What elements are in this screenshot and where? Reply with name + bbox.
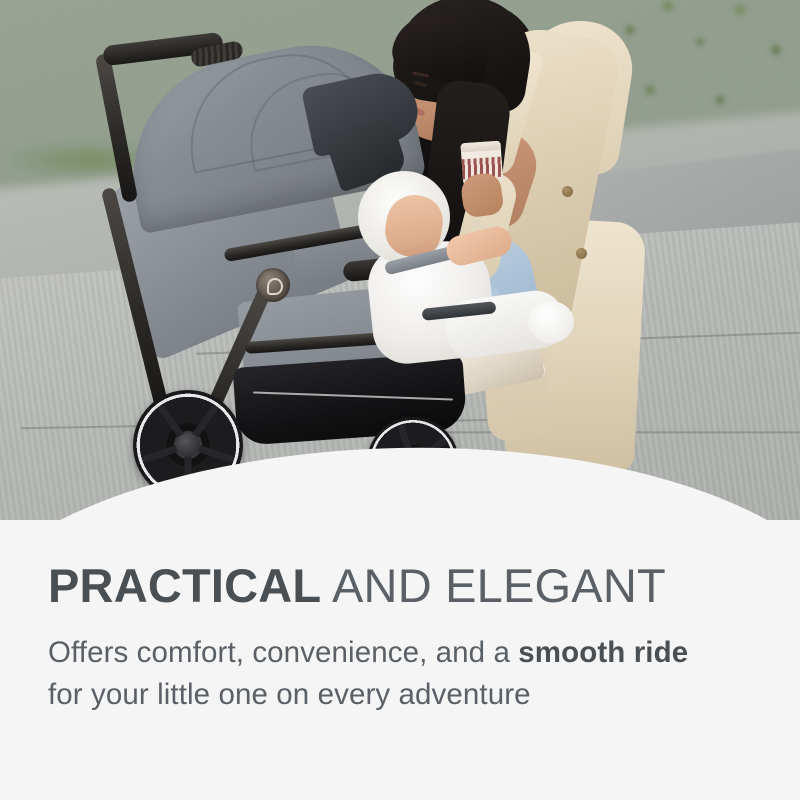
hero-photo bbox=[0, 0, 800, 520]
page-title: PRACTICAL AND ELEGANT bbox=[48, 562, 666, 611]
product-feature-card: PRACTICAL AND ELEGANT Offers comfort, co… bbox=[0, 0, 800, 800]
subtitle-segment-3: for your little one on every adventure bbox=[48, 678, 531, 711]
brand-logo-badge bbox=[256, 268, 290, 302]
subtitle-emphasis: smooth ride bbox=[518, 636, 688, 669]
subtitle-text: Offers comfort, convenience, and a smoot… bbox=[48, 632, 728, 716]
baby-figure bbox=[350, 155, 580, 415]
stroller bbox=[95, 35, 515, 515]
headline-bold-part: PRACTICAL bbox=[48, 559, 321, 612]
baby-foot bbox=[528, 301, 574, 343]
text-panel: PRACTICAL AND ELEGANT Offers comfort, co… bbox=[0, 520, 800, 800]
subtitle-segment-1: Offers comfort, convenience, and a bbox=[48, 636, 518, 669]
wheel-hub bbox=[176, 433, 200, 457]
stroller-frame-rear-post bbox=[95, 53, 138, 203]
headline-light-part: AND ELEGANT bbox=[321, 559, 666, 612]
